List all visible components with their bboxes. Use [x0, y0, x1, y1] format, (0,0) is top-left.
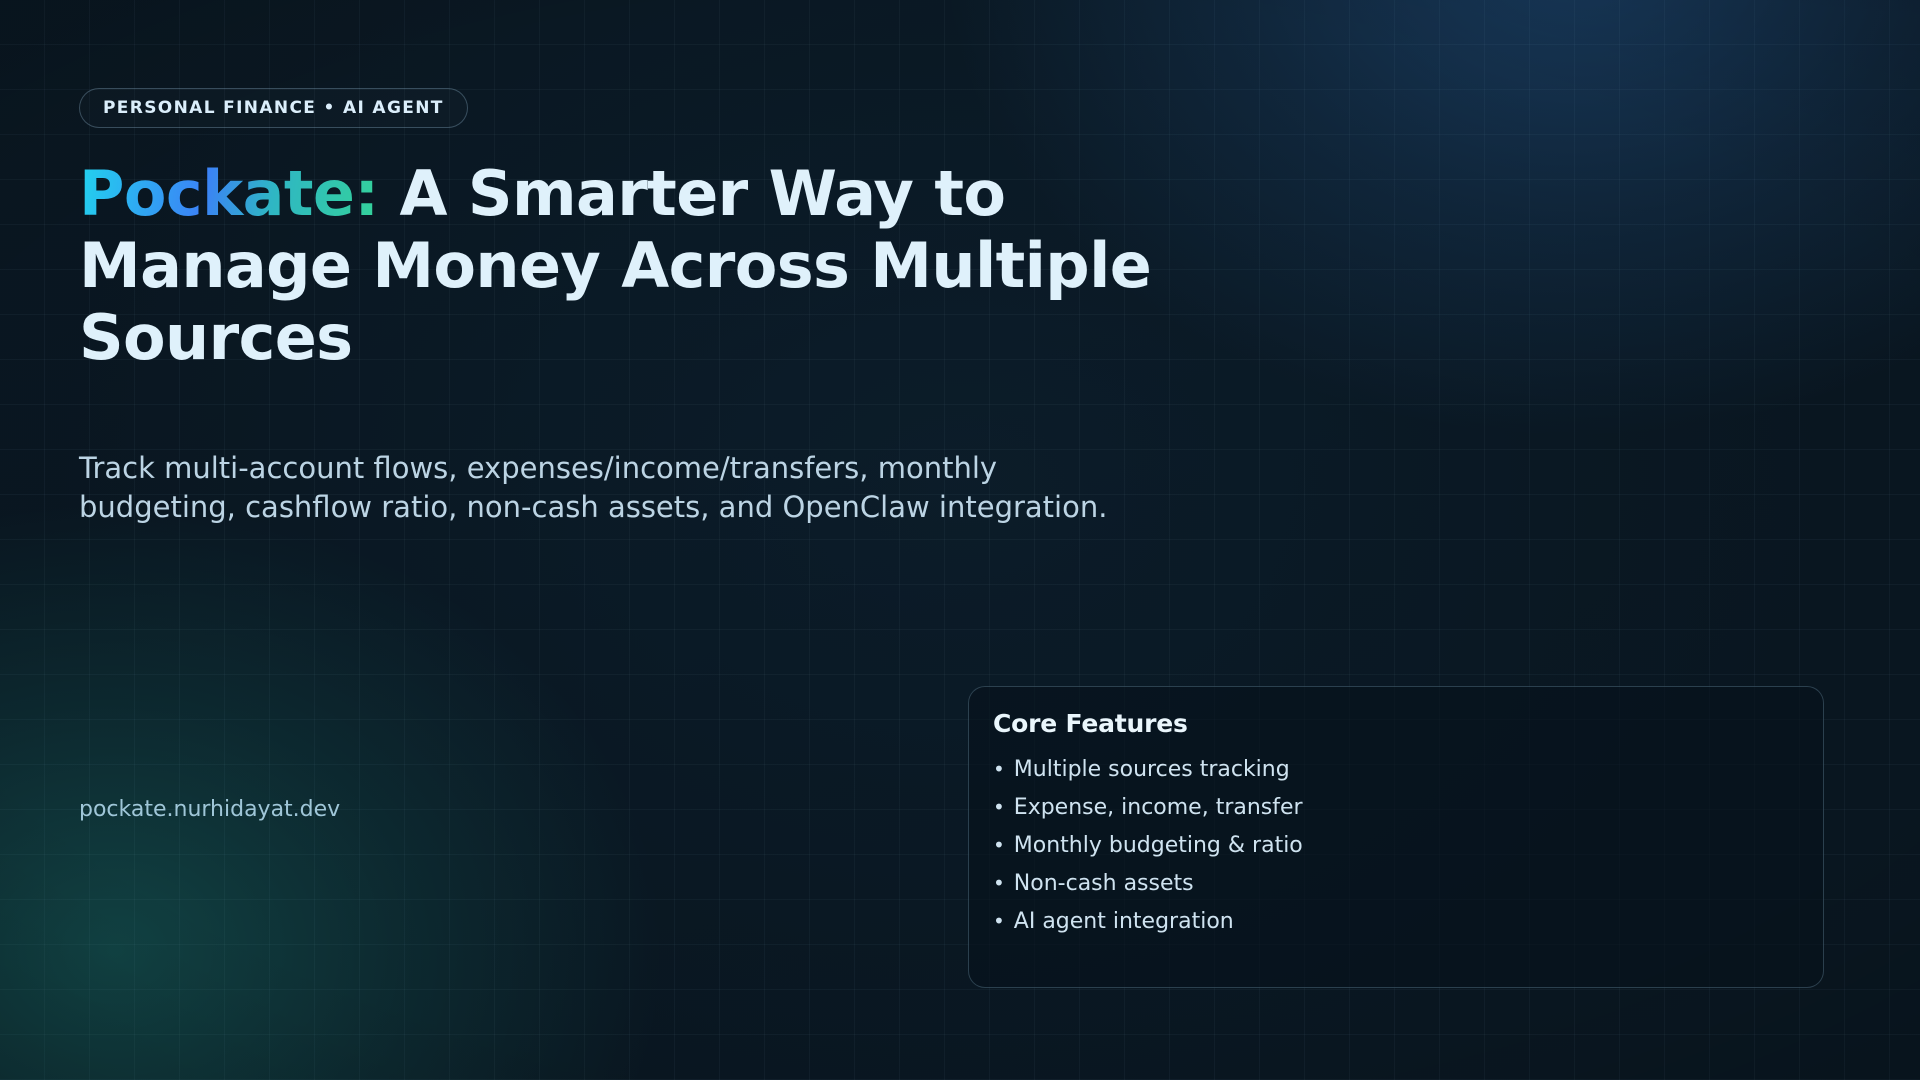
list-item: • Expense, income, transfer: [993, 789, 1799, 827]
list-item-label: AI agent integration: [1014, 911, 1234, 933]
bullet-icon: •: [993, 911, 1005, 931]
page-title: Pockate: A Smarter Way to Manage Money A…: [79, 158, 1199, 374]
slide-content: PERSONAL FINANCE • AI AGENT Pockate: A S…: [0, 0, 1920, 1080]
core-features-list: • Multiple sources tracking • Expense, i…: [993, 751, 1799, 941]
bullet-icon: •: [993, 797, 1005, 817]
category-badge: PERSONAL FINANCE • AI AGENT: [79, 88, 468, 128]
category-badge-label: PERSONAL FINANCE • AI AGENT: [103, 98, 444, 118]
list-item-label: Monthly budgeting & ratio: [1014, 835, 1303, 857]
bullet-icon: •: [993, 873, 1005, 893]
list-item-label: Non-cash assets: [1014, 873, 1194, 895]
list-item: • Non-cash assets: [993, 865, 1799, 903]
list-item: • AI agent integration: [993, 903, 1799, 941]
list-item-label: Expense, income, transfer: [1014, 797, 1303, 819]
list-item-label: Multiple sources tracking: [1014, 759, 1290, 781]
bullet-icon: •: [993, 835, 1005, 855]
page-subtitle: Track multi-account flows, expenses/inco…: [79, 449, 1134, 527]
footer-url: pockate.nurhidayat.dev: [79, 797, 340, 822]
list-item: • Monthly budgeting & ratio: [993, 827, 1799, 865]
core-features-title: Core Features: [993, 709, 1799, 738]
bullet-icon: •: [993, 759, 1005, 779]
brand-name: Pockate:: [79, 157, 379, 230]
core-features-card: Core Features • Multiple sources trackin…: [968, 686, 1824, 988]
list-item: • Multiple sources tracking: [993, 751, 1799, 789]
